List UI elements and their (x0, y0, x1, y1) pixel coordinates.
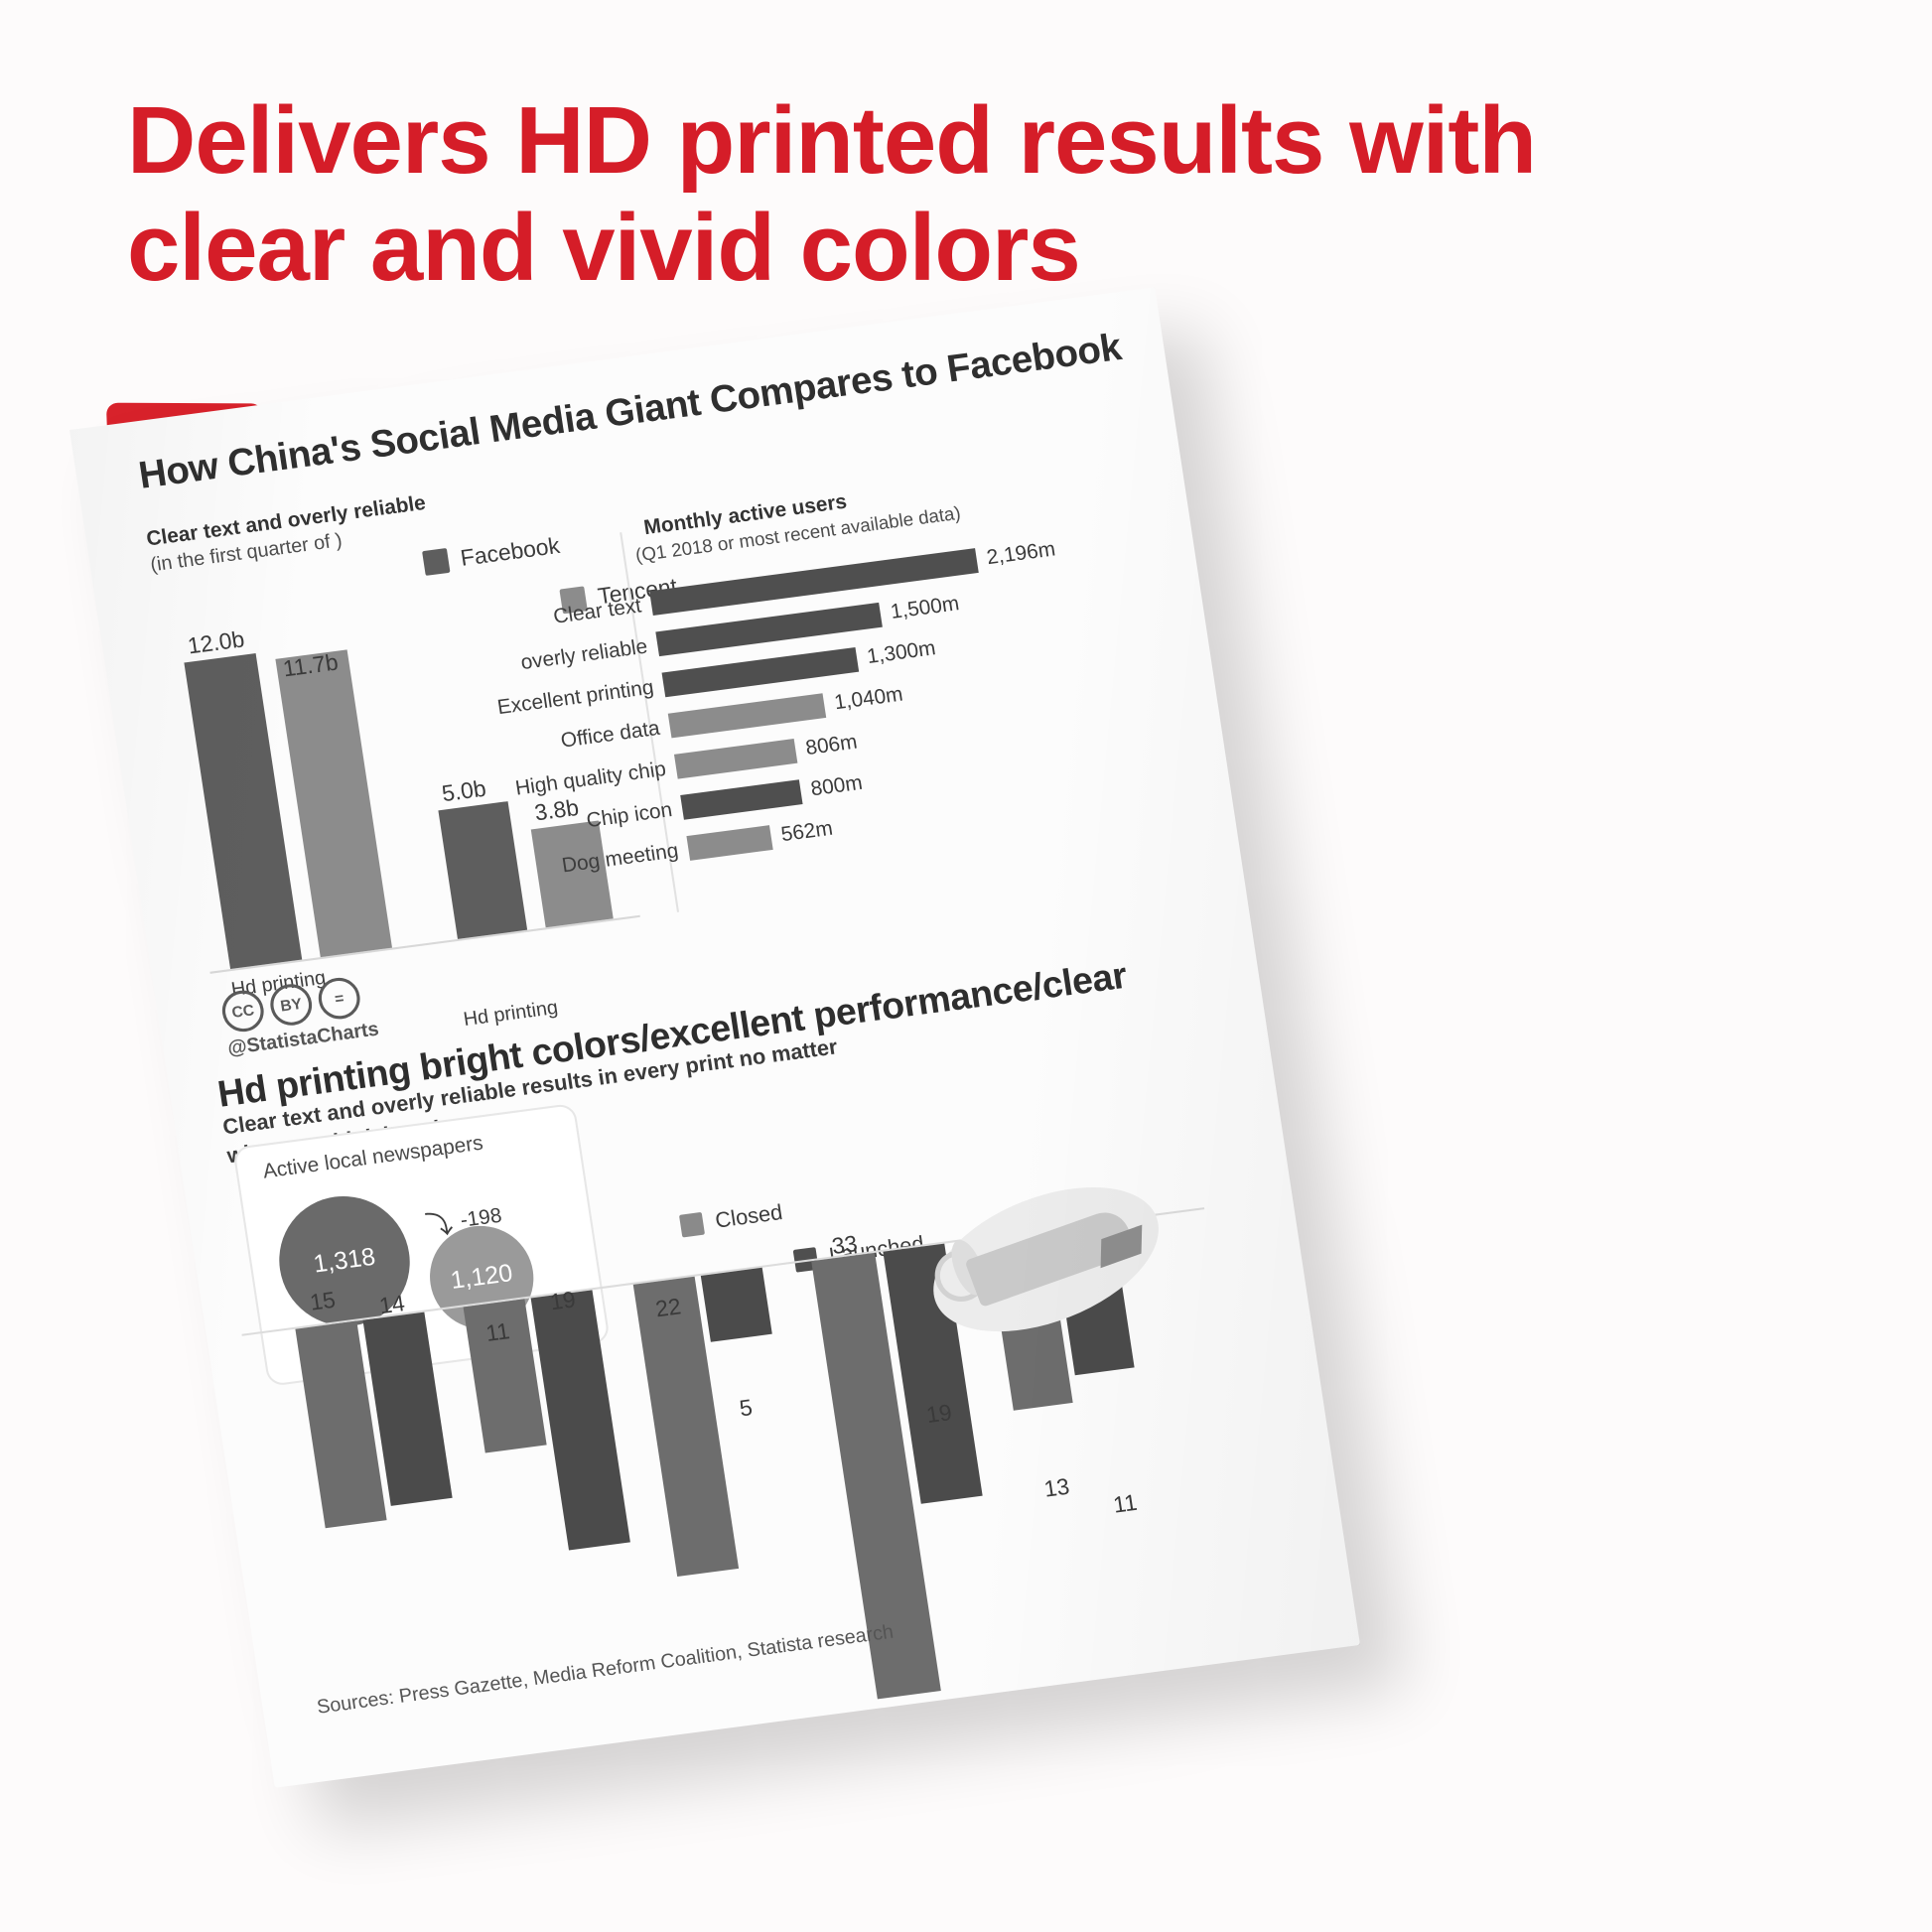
legend-swatch-closed (679, 1212, 705, 1238)
bottom-bar-6[interactable] (701, 1268, 772, 1342)
hbar-value-4: 1,040m (833, 683, 904, 716)
bubble-card-title: Active local newspapers (261, 1132, 484, 1184)
bottom-bar-4[interactable] (531, 1290, 630, 1550)
down-arrow-icon: ⤵ (423, 1202, 456, 1244)
headline-line-1: Delivers HD printed results with (127, 87, 1735, 195)
bottom-bar-value-6: 5 (738, 1394, 755, 1422)
paper-surface: How China's Social Media Giant Compares … (69, 287, 1360, 1788)
infographic-title: How China's Social Media Giant Compares … (136, 323, 1146, 497)
bottom-bar-value-2: 14 (377, 1290, 406, 1319)
monthly-active-users-chart: Clear text 2,196m overly reliable 1,500m… (648, 519, 1203, 873)
cc-icon: CC (219, 988, 266, 1035)
bar-facebook-2[interactable] (438, 801, 527, 939)
bar-category-2: Hd printing (462, 997, 559, 1032)
cc-nd-icon: = (316, 975, 362, 1022)
hbar-value-7: 562m (779, 817, 834, 847)
hbar-value-6: 800m (809, 771, 864, 801)
bar-value-3: 5.0b (440, 775, 487, 808)
infographic-sheet: How China's Social Media Giant Compares … (149, 357, 1837, 1767)
hbar-value-3: 1,300m (866, 637, 937, 670)
hbar-value-5: 806m (804, 731, 859, 760)
hbar-value-1: 2,196m (985, 538, 1056, 571)
bottom-bar-value-5: 22 (653, 1294, 682, 1323)
bottom-bar-value-8: 19 (924, 1399, 953, 1429)
headline-line-2: clear and vivid colors (127, 195, 1735, 302)
bottom-bar-value-3: 11 (484, 1317, 512, 1347)
cc-by-icon: BY (267, 982, 314, 1029)
bottom-bar-value-4: 19 (548, 1287, 577, 1316)
hbar-bar-7[interactable] (686, 825, 772, 861)
hbar-value-2: 1,500m (889, 592, 960, 624)
bottom-bar-value-10: 11 (1112, 1489, 1140, 1519)
bar-value-4: 3.8b (533, 794, 581, 827)
page-headline: Delivers HD printed results with clear a… (127, 87, 1735, 301)
legend-item-closed[interactable]: Closed (679, 1200, 784, 1238)
bottom-bar-value-1: 15 (308, 1287, 337, 1316)
bottom-bar-value-9: 13 (1042, 1473, 1071, 1503)
legend-label-closed: Closed (714, 1200, 784, 1234)
bottom-bar-value-7: 33 (830, 1230, 859, 1260)
